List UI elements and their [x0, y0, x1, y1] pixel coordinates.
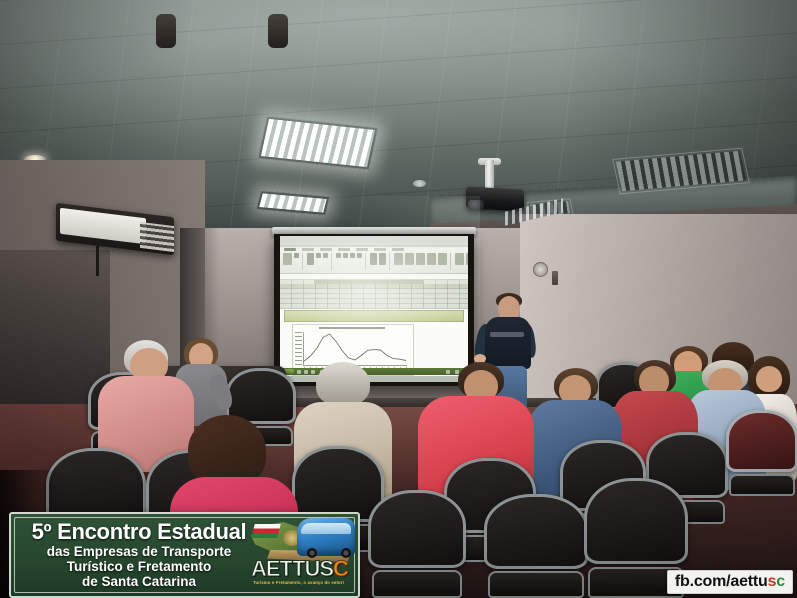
ribbon-tab [392, 248, 404, 251]
projector-lens-icon [468, 200, 484, 210]
chart-title [319, 327, 385, 329]
ribbon-icon [350, 253, 355, 258]
shirt-detail [490, 332, 524, 337]
ribbon-icon [323, 253, 328, 258]
spreadsheet-highlight-band [284, 310, 464, 322]
chair-back [484, 494, 588, 569]
logo-wordmark-accent: C [333, 556, 348, 581]
ribbon-icon [357, 253, 362, 258]
watermark-s: s [768, 573, 777, 590]
logo-tagline: Turismo e Fretamento, o avanço do setor! [253, 580, 355, 585]
banner-line-3: Turístico e Fretamento [20, 559, 258, 574]
ribbon-icon [343, 253, 348, 258]
banner-text-block: 5º Encontro Estadual das Empresas de Tra… [20, 520, 258, 589]
ribbon-icon [416, 253, 425, 265]
watermark-prefix: fb.com/aettu [675, 573, 768, 590]
ribbon-icon [394, 253, 403, 265]
ribbon-icon [438, 253, 447, 265]
ribbon-icon [466, 253, 468, 265]
chair-back [368, 490, 466, 568]
ribbon-tab [284, 248, 296, 251]
logo-wordmark-main: AETTUS [251, 556, 333, 581]
ribbon-group [370, 253, 390, 270]
ribbon-tab [374, 248, 386, 251]
ribbon-icon [379, 253, 386, 265]
projected-spreadsheet [280, 243, 468, 375]
hair [316, 362, 370, 406]
chart-y-tick-labels [295, 332, 302, 365]
event-banner: 5º Encontro Estadual das Empresas de Tra… [9, 512, 360, 598]
banner-line-2: das Empresas de Transporte [20, 544, 258, 559]
ribbon-icon [283, 253, 292, 265]
state-flag-icon [251, 524, 280, 538]
hair [188, 415, 266, 485]
chair-seat [488, 571, 584, 598]
projection-screen [280, 236, 468, 382]
ribbon-group [283, 253, 303, 270]
ribbon-group [394, 253, 451, 270]
smoke-detector-icon [413, 180, 426, 187]
light-louver [259, 193, 326, 212]
sofa-arm [268, 14, 288, 48]
ribbon-icon [405, 253, 414, 265]
spreadsheet-row [280, 304, 468, 309]
ribbon-icon [316, 253, 321, 258]
light-switch-icon[interactable] [552, 271, 558, 285]
ribbon-icon [427, 253, 436, 265]
bus-window-icon [301, 523, 351, 534]
chair-back [584, 478, 688, 564]
ribbon-tab [356, 248, 368, 251]
chair-seat [729, 474, 795, 496]
sofa-arm [156, 14, 176, 48]
ribbon-icon [307, 253, 314, 265]
projector-mount-pole [485, 160, 494, 190]
banner-line-4: de Santa Catarina [20, 574, 258, 589]
ribbon-tab [338, 248, 350, 251]
air-conditioner-cable [96, 246, 99, 276]
ribbon-icon [294, 253, 299, 258]
ribbon-tab [320, 248, 332, 251]
ribbon-icon [370, 253, 377, 265]
spreadsheet-rows [280, 284, 468, 310]
watermark-c: c [776, 573, 785, 590]
chart-series-line [303, 332, 407, 366]
ribbon-group [307, 253, 332, 270]
logo-wordmark: AETTUSC [251, 558, 357, 580]
air-conditioner-vent [140, 222, 174, 252]
ribbon-tab [302, 248, 314, 251]
chair-seat [372, 570, 462, 598]
conference-room-photo: 5º Encontro Estadual das Empresas de Tra… [0, 0, 797, 598]
chair [726, 410, 797, 496]
chair-back [726, 410, 797, 472]
spreadsheet-ribbon [280, 247, 468, 274]
facebook-watermark[interactable]: fb.com/aettusc [667, 570, 793, 594]
banner-line-1: 5º Encontro Estadual [20, 520, 258, 544]
ribbon-icon [455, 253, 464, 265]
wall-clock-icon [533, 262, 548, 277]
chair [484, 494, 588, 598]
aettusc-logo: AETTUSC Turismo e Fretamento, o avanço d… [249, 518, 357, 592]
light-louver [261, 119, 375, 167]
ribbon-group [336, 253, 366, 270]
ribbon-group [455, 253, 468, 270]
ribbon-icon [336, 253, 341, 258]
ribbon-groups [280, 251, 468, 272]
chair [368, 490, 466, 598]
